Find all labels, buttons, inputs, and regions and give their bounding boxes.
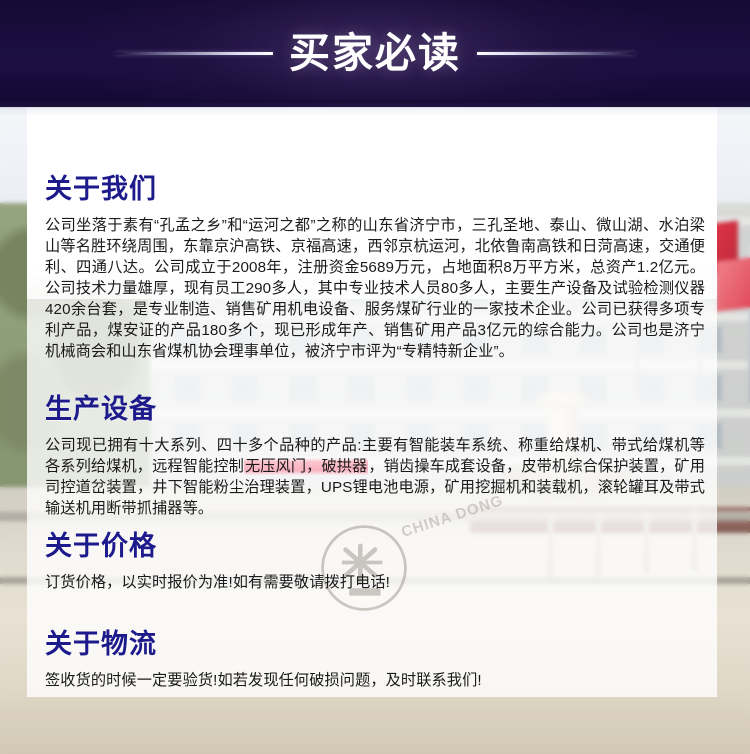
section-title-about-logistics: 关于物流 [45,630,705,658]
page-root: CHINA DONG 买家必读 关于我们 公司坐落于素有“孔孟之乡”和“运河之都… [0,0,750,754]
header-banner: 买家必读 [0,0,750,107]
section-body-about-logistics: 签收货的时候一定要验货!如若发现任何破损问题，及时联系我们! [45,670,705,691]
section-body-production-equipment: 公司现已拥有十大系列、四十多个品种的产品:主要有智能装车系统、称重给煤机、带式给… [45,435,705,519]
section-about-us: 关于我们 公司坐落于素有“孔孟之乡”和“运河之都”之称的山东省济宁市，三孔圣地、… [45,175,705,362]
section-title-about-us: 关于我们 [45,175,705,203]
body-text-before: 公司坐落于素有“孔孟之乡”和“运河之都”之称的山东省济宁市，三孔圣地、泰山、微山… [45,217,705,360]
section-body-about-price: 订货价格，以实时报价为准!如有需要敬请拨打电话! [45,572,705,593]
body-text-before: 签收货的时候一定要验货!如若发现任何破损问题，及时联系我们! [45,672,482,689]
section-about-logistics: 关于物流 签收货的时候一定要验货!如若发现任何破损问题，及时联系我们! [45,630,705,691]
section-production-equipment: 生产设备 公司现已拥有十大系列、四十多个品种的产品:主要有智能装车系统、称重给煤… [45,395,705,519]
decorative-rule-left-icon [115,52,273,55]
banner-title: 买家必读 [289,33,461,74]
body-text-before: 订货价格，以实时报价为准!如有需要敬请拨打电话! [45,574,390,591]
highlighted-product-text: 无压风门，破拱器 [244,458,368,475]
section-body-about-us: 公司坐落于素有“孔孟之乡”和“运河之都”之称的山东省济宁市，三孔圣地、泰山、微山… [45,215,705,362]
section-title-about-price: 关于价格 [45,532,705,560]
section-title-production-equipment: 生产设备 [45,395,705,423]
decorative-rule-right-icon [477,52,635,55]
section-about-price: 关于价格 订货价格，以实时报价为准!如有需要敬请拨打电话! [45,532,705,593]
